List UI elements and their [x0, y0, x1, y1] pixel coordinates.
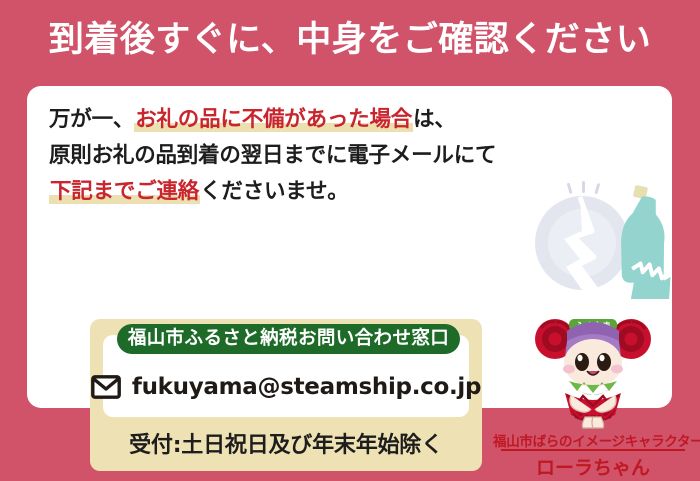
- broken-bottle-icon: [612, 185, 679, 299]
- notice-body-text: 万が一、お礼の品に不備があった場合は、 原則お礼の品到着の翌日までに電子メールに…: [49, 102, 509, 210]
- line2-text: 原則お礼の品到着の翌日までに電子メールにて: [49, 143, 496, 168]
- rola-chan-mascot-icon: ふくやま: [527, 311, 659, 429]
- contact-box: 福山市ふるさと納税お問い合わせ窓口 fukuyama@steamship.co.…: [90, 319, 482, 471]
- line1-highlight-text: お礼の品に不備があった場合: [134, 107, 413, 132]
- mascot-legs: [582, 417, 603, 428]
- line1-post-text: は、: [413, 107, 456, 132]
- contact-email-address[interactable]: fukuyama@steamship.co.jp: [132, 374, 481, 400]
- page-title: 到着後すぐに、中身をご確認ください: [0, 17, 700, 63]
- mascot-caption: 福山市ばらのイメージキャラクター: [493, 430, 693, 450]
- broken-goods-illustration: [522, 181, 682, 299]
- envelope-icon: [91, 375, 121, 399]
- notice-body-line-3: 下記までご連絡くださいませ。: [49, 174, 509, 210]
- notice-body-line-2: 原則お礼の品到着の翌日までに電子メールにて: [49, 138, 509, 174]
- line3-highlight-text: 下記までご連絡: [49, 179, 200, 204]
- notice-card: 万が一、お礼の品に不備があった場合は、 原則お礼の品到着の翌日までに電子メールに…: [27, 86, 672, 408]
- mascot-block: ふくやま: [493, 311, 693, 481]
- notice-body-line-1: 万が一、お礼の品に不備があった場合は、: [49, 102, 509, 138]
- line1-pre-text: 万が一、: [49, 107, 134, 132]
- contact-window-label: 福山市ふるさと納税お問い合わせ窓口: [117, 324, 460, 354]
- mascot-divider: [501, 449, 685, 451]
- contact-email-row[interactable]: fukuyama@steamship.co.jp: [103, 367, 469, 407]
- mascot-name: ローラちゃん: [493, 453, 693, 480]
- contact-hours-text: 受付:土日祝日及び年末年始除く: [90, 427, 482, 459]
- fukuyama-arrival-notice-banner: 到着後すぐに、中身をご確認ください 万が一、お礼の品に不備があった場合は、 原則…: [0, 0, 700, 435]
- line3-post-text: くださいませ。: [200, 179, 348, 204]
- impact-sparks-icon: [567, 181, 601, 194]
- broken-plate-icon: [535, 196, 629, 290]
